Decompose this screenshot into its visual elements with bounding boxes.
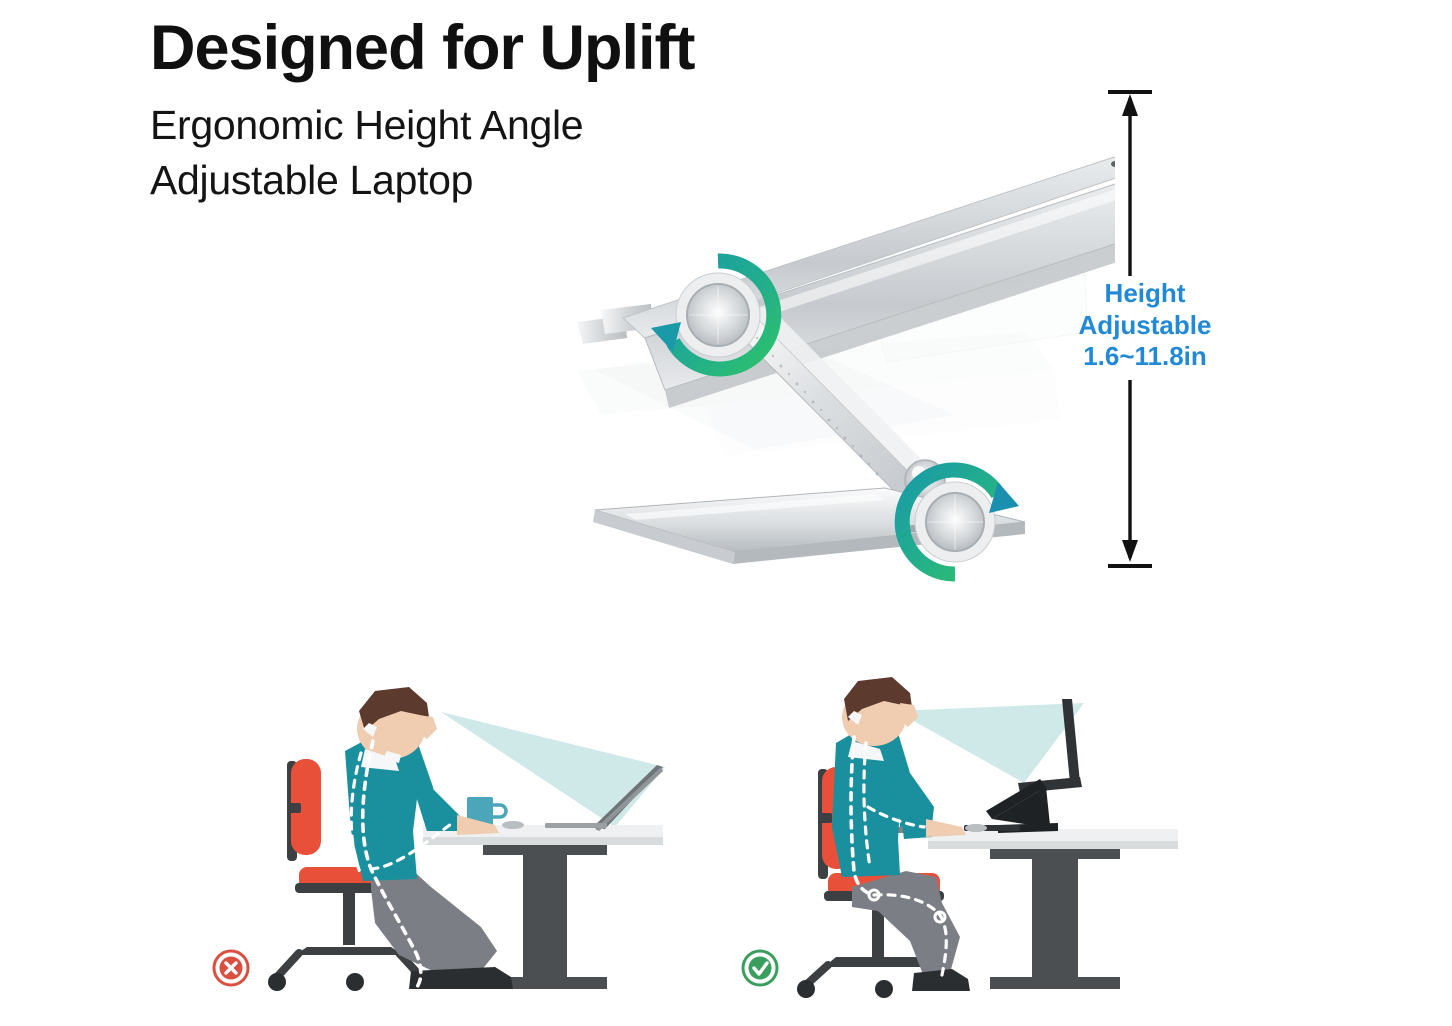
panel-good-posture xyxy=(728,655,1288,1026)
mouse xyxy=(502,821,524,829)
status-badge-bad xyxy=(214,951,248,985)
panel-bad-posture xyxy=(195,655,755,1026)
dimension-label-line-3: 1.6~11.8in xyxy=(1030,341,1260,373)
height-adjustable-label: Height Adjustable 1.6~11.8in xyxy=(1030,278,1260,373)
vision-cone xyxy=(896,703,1084,783)
desk xyxy=(928,829,1178,989)
dimension-label-line-1: Height xyxy=(1030,278,1260,310)
dimension-label-line-2: Adjustable xyxy=(1030,310,1260,342)
mouse xyxy=(965,824,987,832)
posture-comparison xyxy=(0,655,1452,1026)
product-marketing-image: Designed for Uplift Ergonomic Height Ang… xyxy=(0,0,1452,1026)
status-badge-good xyxy=(743,951,777,985)
